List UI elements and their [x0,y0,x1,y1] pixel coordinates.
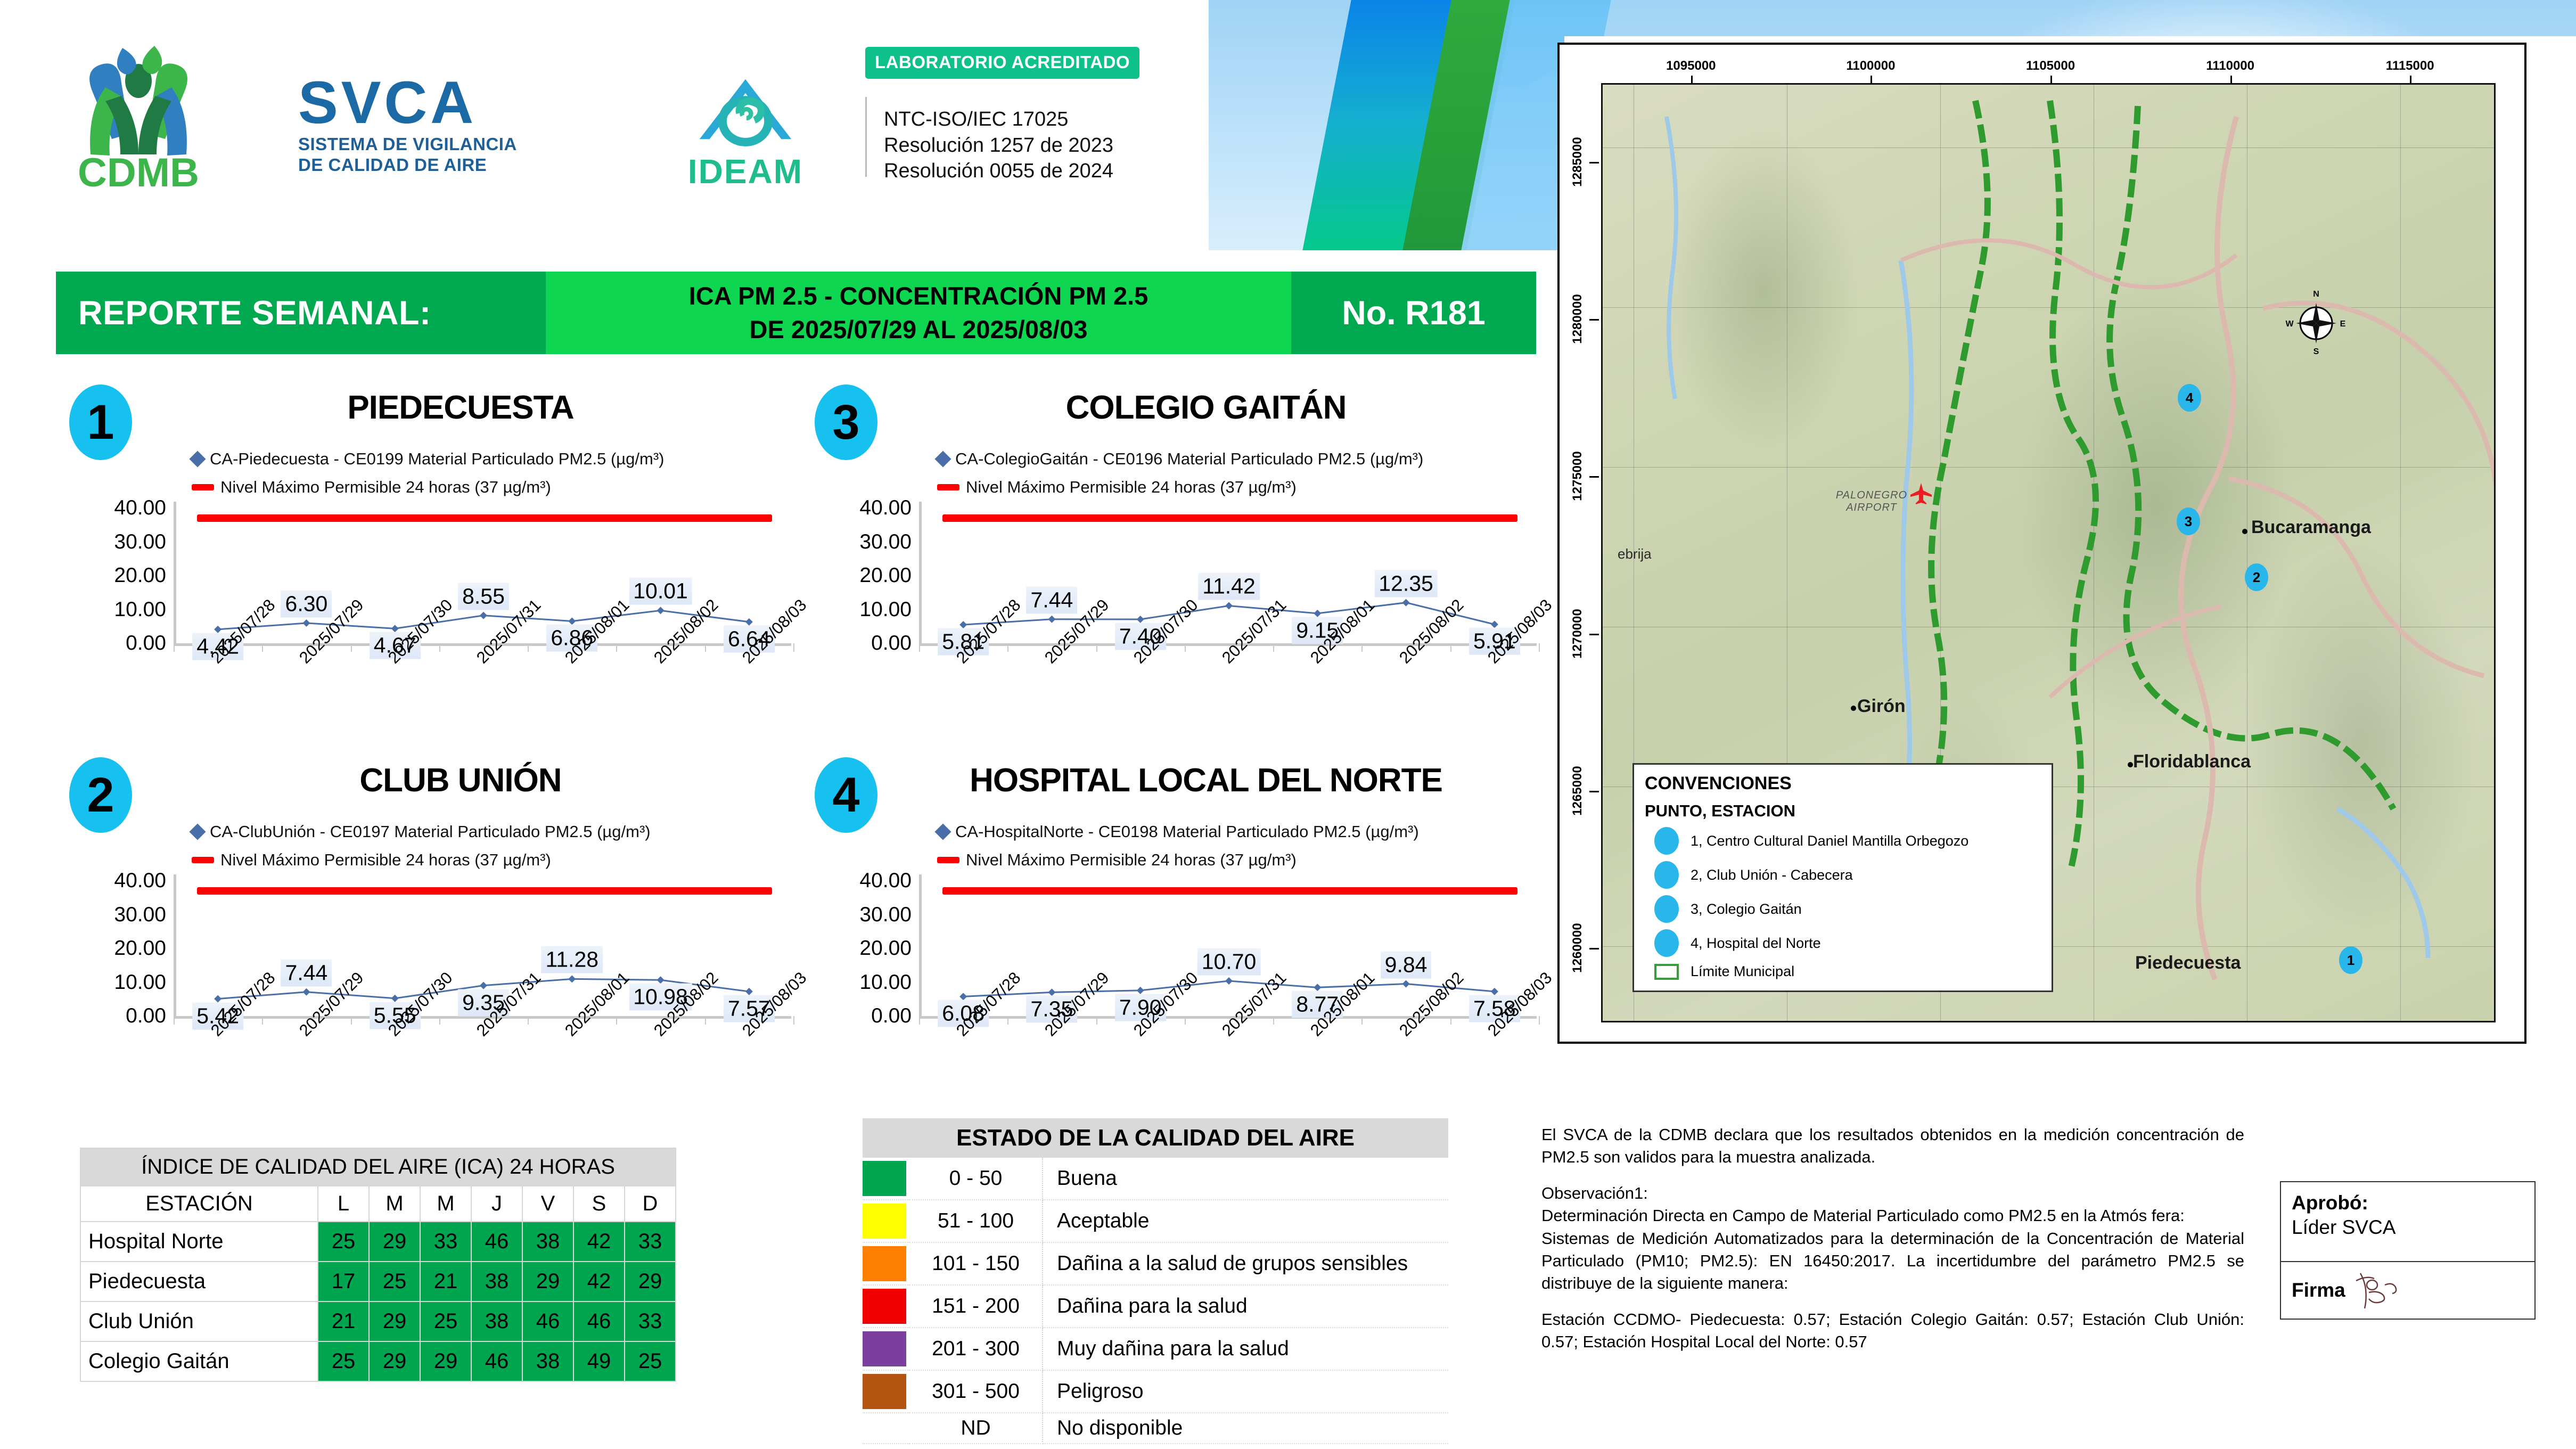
map-x-tick-label: 1110000 [2206,59,2254,73]
legend-series-row: CA-Piedecuesta - CE0199 Material Particu… [192,447,664,471]
y-tick-label: 10.00 [859,971,912,994]
y-axis-labels: 0.0010.0020.0030.0040.00 [91,879,170,1013]
ica-value-cell: 46 [471,1222,522,1262]
ica-station-name: Hospital Norte [80,1222,318,1262]
aq-color-swatch [863,1246,906,1281]
approval-signature-box: Aprobó: Líder SVCA Firma [2280,1181,2536,1320]
report-subject-line1: ICA PM 2.5 - CONCENTRACIÓN PM 2.5 [689,280,1148,313]
approval-row: Aprobó: Líder SVCA [2281,1182,2534,1262]
map-y-tick-label: 1275000 [1570,452,1585,501]
map-y-tick [1589,319,1599,321]
cdmb-logo: CDMB [59,32,218,192]
table-row: Hospital Norte25293346384233 [80,1222,676,1262]
x-axis-labels: 2025/07/282025/07/292025/07/302025/07/31… [919,651,1542,747]
chart-badge-number: 3 [815,384,877,460]
map-legend-points: 1, Centro Cultural Daniel Mantilla Orbeg… [1645,827,2041,957]
ica-col-day: M [369,1186,420,1222]
aq-range-label: 51 - 100 [909,1200,1043,1242]
map-legend-point-label: 4, Hospital del Norte [1691,935,1821,952]
accreditation-line2: Resolución 1257 de 2023 [884,133,1113,159]
map-pin-1[interactable]: 1 [2339,946,2362,974]
aq-range-label: 151 - 200 [909,1285,1043,1328]
y-tick-label: 20.00 [859,564,912,587]
approved-label: Aprobó: [2292,1192,2524,1214]
ica-value-cell: 33 [420,1222,471,1262]
legend-series-label: CA-Piedecuesta - CE0199 Material Particu… [210,447,664,471]
ica-station-name: Colegio Gaitán [80,1341,318,1381]
data-point-label: 7.44 [281,959,332,986]
data-point-label: 6.30 [281,590,332,617]
map-y-tick [1589,162,1599,163]
series-marker-icon [189,451,206,468]
aq-color-swatch [863,1161,906,1196]
svg-text:E: E [2340,320,2346,329]
aq-color-swatch [863,1374,906,1409]
list-item: 151 - 200 Dañina para la salud [863,1285,1448,1328]
ica-value-cell: 29 [420,1341,471,1381]
map-legend-point-row: 4, Hospital del Norte [1645,929,2041,957]
accreditation-line3: Resolución 0055 de 2024 [884,158,1113,184]
ica-value-cell: 38 [471,1262,522,1301]
ica-value-cell: 29 [369,1301,420,1341]
map-y-tick [1589,634,1599,635]
table-row: Piedecuesta17252138294229 [80,1262,676,1301]
city-label-piedecuesta: Piedecuesta [2135,953,2241,973]
aq-color-swatch-cell [863,1370,909,1413]
chart-title: PIEDECUESTA [160,389,761,427]
legend-limit-label: Nivel Máximo Permisible 24 horas (37 µg/… [966,476,1297,500]
ica-value-cell: 25 [420,1301,471,1341]
map-y-tick [1589,476,1599,478]
city-label-lebrija: ebrija [1618,546,1652,562]
compass-rose-icon: N S E W [2284,287,2348,356]
aq-color-swatch-cell [863,1242,909,1285]
aq-legend-title: ESTADO DE LA CALIDAD DEL AIRE [863,1118,1448,1158]
legend-limit-label: Nivel Máximo Permisible 24 horas (37 µg/… [220,476,551,500]
map-legend-panel: CONVENCIONES PUNTO, ESTACION 1, Centro C… [1632,763,2053,992]
ica-header-row: ESTACIÓNLMMJVSD [80,1186,676,1222]
ica-table-body: Hospital Norte25293346384233Piedecuesta1… [80,1222,676,1381]
y-tick-label: 20.00 [114,937,166,960]
chart-card-colegio-gaitan: 3COLEGIO GAITÁN CA-ColegioGaitán - CE019… [804,373,1549,746]
declaration-paragraph-4: Estación CCDMO- Piedecuesta: 0.57; Estac… [1541,1308,2244,1353]
declaration-text-block: El SVCA de la CDMB declara que los resul… [1541,1124,2244,1353]
declaration-paragraph-1: El SVCA de la CDMB declara que los resul… [1541,1124,2244,1168]
y-tick-label: 20.00 [114,564,166,587]
ica-value-cell: 25 [318,1341,369,1381]
accreditation-text: NTC-ISO/IEC 17025 Resolución 1257 de 202… [884,107,1113,184]
map-legend-point-row: 3, Colegio Gaitán [1645,895,2041,923]
aq-description-label: Dañina a la salud de grupos sensibles [1043,1242,1448,1285]
ica-col-day: S [573,1186,625,1222]
aq-color-swatch [863,1331,906,1366]
declaration-paragraph-2: Determinación Directa en Campo de Materi… [1541,1205,2244,1227]
map-y-tick-label: 1265000 [1570,766,1585,815]
city-label-giron: Girón [1857,696,1906,717]
table-row: Colegio Gaitán25292946384925 [80,1341,676,1381]
aq-range-label: 101 - 150 [909,1242,1043,1285]
ica-table-title: ÍNDICE DE CALIDAD DEL AIRE (ICA) 24 HORA… [80,1148,676,1186]
legend-limit-row: Nivel Máximo Permisible 24 horas (37 µg/… [192,848,651,872]
y-tick-label: 0.00 [126,632,166,655]
lab-accredited-badge: LABORATORIO ACREDITADO [865,47,1139,79]
data-point-label: 10.01 [629,578,692,605]
svca-acronym: SVCA [298,75,618,131]
aq-description-label: Peligroso [1043,1370,1448,1413]
ica-value-cell: 46 [573,1301,625,1341]
chart-badge-number: 1 [69,384,132,460]
y-tick-label: 30.00 [859,903,912,927]
station-pin-icon [1654,895,1679,923]
ica-value-cell: 17 [318,1262,369,1301]
legend-series-label: CA-ColegioGaitán - CE0196 Material Parti… [955,447,1423,471]
ica-value-cell: 46 [522,1301,573,1341]
legend-series-row: CA-ColegioGaitán - CE0196 Material Parti… [937,447,1423,471]
ica-value-cell: 49 [573,1341,625,1381]
svca-subtitle-line1: SISTEMA DE VIGILANCIA [298,134,618,155]
aq-range-label: 201 - 300 [909,1328,1043,1370]
station-pin-icon [1654,827,1679,855]
aq-range-label: 0 - 50 [909,1158,1043,1200]
map-y-tick [1589,791,1599,792]
map-pin-2[interactable]: 2 [2245,563,2268,591]
y-tick-label: 0.00 [871,1004,912,1028]
chart-plot-area: 0.0010.0020.0030.0040.00 4.426.304.678.5… [91,506,793,666]
data-point-label: 11.28 [542,946,603,973]
aq-color-swatch-cell [863,1413,909,1444]
y-axis-labels: 0.0010.0020.0030.0040.00 [836,879,916,1013]
map-viewport[interactable]: PALONEGRO AIRPORT Bucaramanga Girón Flor… [1601,83,2496,1022]
chart-title: CLUB UNIÓN [160,762,761,799]
ica-value-cell: 33 [625,1222,676,1262]
chart-badge-number: 2 [69,757,132,833]
chart-plot-area: 0.0010.0020.0030.0040.00 6.087.357.9010.… [836,879,1539,1038]
declaration-paragraph-3: Sistemas de Medición Automatizados para … [1541,1227,2244,1295]
legend-limit-label: Nivel Máximo Permisible 24 horas (37 µg/… [220,848,551,872]
city-dot [2242,529,2247,534]
chart-card-piedecuesta: 1PIEDECUESTA CA-Piedecuesta - CE0199 Mat… [59,373,804,746]
map-x-tick-label: 1095000 [1666,59,1716,73]
map-legend-point-label: 1, Centro Cultural Daniel Mantilla Orbeg… [1691,833,1968,849]
ica-col-station: ESTACIÓN [80,1186,318,1222]
ica-value-cell: 25 [625,1341,676,1381]
city-label-floridablanca: Floridablanca [2133,751,2251,772]
list-item: 51 - 100 Aceptable [863,1200,1448,1242]
list-item: 0 - 50 Buena [863,1158,1448,1200]
legend-series-label: CA-ClubUnión - CE0197 Material Particula… [210,820,651,844]
svg-text:S: S [2314,347,2319,356]
legend-limit-row: Nivel Máximo Permisible 24 horas (37 µg/… [192,476,664,500]
y-tick-label: 40.00 [114,496,166,520]
ica-value-cell: 29 [522,1262,573,1301]
ica-value-cell: 21 [420,1262,471,1301]
chart-card-club-union: 2CLUB UNIÓN CA-ClubUnión - CE0197 Materi… [59,746,804,1118]
y-tick-label: 10.00 [114,971,166,994]
chart-card-hospital-norte: 4HOSPITAL LOCAL DEL NORTE CA-HospitalNor… [804,746,1549,1118]
approved-value: Líder SVCA [2292,1216,2524,1239]
accreditation-divider [865,97,867,177]
station-pin-icon [1654,861,1679,889]
series-marker-icon [189,824,206,840]
list-item: 301 - 500 Peligroso [863,1370,1448,1413]
chart-plot-area: 0.0010.0020.0030.0040.00 5.817.447.4011.… [836,506,1539,666]
x-axis-labels: 2025/07/282025/07/292025/07/302025/07/31… [919,1024,1542,1119]
x-axis-labels: 2025/07/282025/07/292025/07/302025/07/31… [174,651,797,747]
y-tick-label: 40.00 [114,869,166,893]
map-x-tick-label: 1105000 [2026,59,2075,73]
airport-label: PALONEGRO AIRPORT [1816,489,1927,514]
series-marker-icon [934,824,951,840]
aq-range-label: 301 - 500 [909,1370,1043,1413]
ica-value-cell: 21 [318,1301,369,1341]
ica-station-name: Piedecuesta [80,1262,318,1301]
map-legend-point-label: 3, Colegio Gaitán [1691,901,1802,918]
ica-index-table: ÍNDICE DE CALIDAD DEL AIRE (ICA) 24 HORA… [80,1148,676,1382]
ica-value-cell: 29 [625,1262,676,1301]
chart-title: COLEGIO GAITÁN [905,389,1507,427]
svg-text:W: W [2285,320,2294,329]
data-point-label: 9.84 [1381,951,1432,978]
svca-subtitle-line2: DE CALIDAD DE AIRE [298,155,618,176]
y-tick-label: 10.00 [114,598,166,621]
legend-series-row: CA-ClubUnión - CE0197 Material Particula… [192,820,651,844]
map-legend-boundary-label: Límite Municipal [1691,963,1794,980]
ica-value-cell: 38 [522,1222,573,1262]
chart-plot-area: 0.0010.0020.0030.0040.00 5.427.445.559.3… [91,879,793,1038]
map-x-tick-label: 1115000 [2386,59,2434,73]
ideam-logo: IDEAM [666,69,825,192]
y-tick-label: 30.00 [114,903,166,927]
ideam-name: IDEAM [666,152,825,191]
aq-color-swatch-cell [863,1200,909,1242]
ica-value-cell: 29 [369,1341,420,1381]
ica-col-day: M [420,1186,471,1222]
aq-color-swatch [863,1289,906,1324]
ica-value-cell: 33 [625,1301,676,1341]
city-dot [2128,762,2133,767]
aq-description-label: Aceptable [1043,1200,1448,1242]
ica-col-day: J [471,1186,522,1222]
aq-description-label: Dañina para la salud [1043,1285,1448,1328]
legend-series-row: CA-HospitalNorte - CE0198 Material Parti… [937,820,1419,844]
list-item: 201 - 300 Muy dañina para la salud [863,1328,1448,1370]
signature-row: Firma [2281,1262,2534,1319]
ica-value-cell: 25 [369,1262,420,1301]
aq-color-swatch-cell [863,1285,909,1328]
map-x-tick-label: 1100000 [1846,59,1895,73]
chart-legend: CA-ColegioGaitán - CE0196 Material Parti… [937,447,1423,504]
data-point-label: 12.35 [1374,570,1438,597]
y-tick-label: 40.00 [859,496,912,520]
series-marker-icon [934,451,951,468]
municipal-boundary-icon [1654,964,1679,980]
aq-description-label: Buena [1043,1158,1448,1200]
y-tick-label: 30.00 [859,530,912,554]
map-legend-point-row: 1, Centro Cultural Daniel Mantilla Orbeg… [1645,827,2041,855]
city-label-bucaramanga: Bucaramanga [2251,517,2371,538]
legend-series-label: CA-HospitalNorte - CE0198 Material Parti… [955,820,1419,844]
y-axis-labels: 0.0010.0020.0030.0040.00 [91,506,170,640]
table-row: Club Unión21292538464633 [80,1301,676,1341]
map-legend-point-row: 2, Club Unión - Cabecera [1645,861,2041,889]
svca-logo: SVCA SISTEMA DE VIGILANCIA DE CALIDAD DE… [298,75,618,192]
map-y-tick-label: 1270000 [1570,609,1585,658]
ica-col-day: V [522,1186,573,1222]
map-legend-subtitle: PUNTO, ESTACION [1645,801,2041,821]
chart-badge-number: 4 [815,757,877,833]
station-location-map[interactable]: 1095000110000011050001110000111500012850… [1557,43,2526,1044]
y-tick-label: 0.00 [871,632,912,655]
y-tick-label: 30.00 [114,530,166,554]
ica-value-cell: 25 [318,1222,369,1262]
map-y-tick-label: 1260000 [1570,923,1585,973]
accreditation-line1: NTC-ISO/IEC 17025 [884,107,1113,133]
observation-title: Observación1: [1541,1182,2244,1205]
map-legend-boundary-row: Límite Municipal [1645,963,2041,980]
legend-limit-label: Nivel Máximo Permisible 24 horas (37 µg/… [966,848,1297,872]
limit-line-icon [937,484,959,490]
legend-limit-row: Nivel Máximo Permisible 24 horas (37 µg/… [937,848,1419,872]
y-tick-label: 40.00 [859,869,912,893]
list-item: 101 - 150 Dañina a la salud de grupos se… [863,1242,1448,1285]
map-pin-3[interactable]: 3 [2177,507,2200,535]
ica-value-cell: 42 [573,1222,625,1262]
city-dot [1851,706,1856,711]
air-quality-legend-table: ESTADO DE LA CALIDAD DEL AIRE 0 - 50 Bue… [863,1118,1448,1444]
chart-legend: CA-Piedecuesta - CE0199 Material Particu… [192,447,664,504]
report-subject-line2: DE 2025/07/29 AL 2025/08/03 [750,313,1088,346]
y-tick-label: 20.00 [859,937,912,960]
ica-col-day: D [625,1186,676,1222]
x-axis-labels: 2025/07/282025/07/292025/07/302025/07/31… [174,1024,797,1119]
data-point-label: 7.44 [1027,586,1078,613]
data-point-label: 11.42 [1198,573,1260,600]
data-point-label: 10.70 [1197,948,1261,976]
report-number: No. R181 [1291,272,1536,354]
ica-value-cell: 46 [471,1341,522,1381]
aq-color-swatch [863,1204,906,1239]
y-axis-labels: 0.0010.0020.0030.0040.00 [836,506,916,640]
map-y-tick-label: 1280000 [1570,294,1585,343]
chart-legend: CA-HospitalNorte - CE0198 Material Parti… [937,820,1419,877]
ica-col-day: L [318,1186,369,1222]
signature-mark-icon [2353,1269,2411,1312]
svg-text:N: N [2313,290,2319,299]
ica-value-cell: 38 [522,1341,573,1381]
map-y-tick-label: 1285000 [1570,137,1585,186]
limit-line-icon [937,857,959,863]
y-tick-label: 10.00 [859,598,912,621]
aq-description-label: Muy dañina para la salud [1043,1328,1448,1370]
ica-value-cell: 38 [471,1301,522,1341]
aq-legend-body: 0 - 50 Buena 51 - 100 Aceptable 101 - 15… [863,1158,1448,1444]
ica-station-name: Club Unión [80,1301,318,1341]
firma-label: Firma [2292,1279,2345,1301]
aq-color-swatch-cell [863,1328,909,1370]
aq-range-label: ND [909,1413,1043,1444]
chart-title: HOSPITAL LOCAL DEL NORTE [905,762,1507,799]
data-point-label: 8.55 [458,583,509,610]
ideam-mark-icon [687,69,804,149]
aq-description-label: No disponible [1043,1413,1448,1444]
y-tick-label: 0.00 [126,1004,166,1028]
report-subject: ICA PM 2.5 - CONCENTRACIÓN PM 2.5 DE 202… [546,272,1291,354]
map-legend-point-label: 2, Club Unión - Cabecera [1691,867,1853,883]
svg-text:CDMB: CDMB [78,150,199,192]
report-title-bar: REPORTE SEMANAL: ICA PM 2.5 - CONCENTRAC… [56,272,1536,354]
report-type-label: REPORTE SEMANAL: [56,272,546,354]
map-pin-4[interactable]: 4 [2178,384,2201,412]
aq-color-swatch-cell [863,1158,909,1200]
map-legend-title: CONVENCIONES [1645,773,2041,794]
ica-value-cell: 29 [369,1222,420,1262]
limit-line-icon [192,857,214,863]
station-pin-icon [1654,929,1679,957]
ica-value-cell: 42 [573,1262,625,1301]
legend-limit-row: Nivel Máximo Permisible 24 horas (37 µg/… [937,476,1423,500]
limit-line-icon [192,484,214,490]
list-item: ND No disponible [863,1413,1448,1444]
map-y-tick [1589,948,1599,949]
chart-legend: CA-ClubUnión - CE0197 Material Particula… [192,820,651,877]
